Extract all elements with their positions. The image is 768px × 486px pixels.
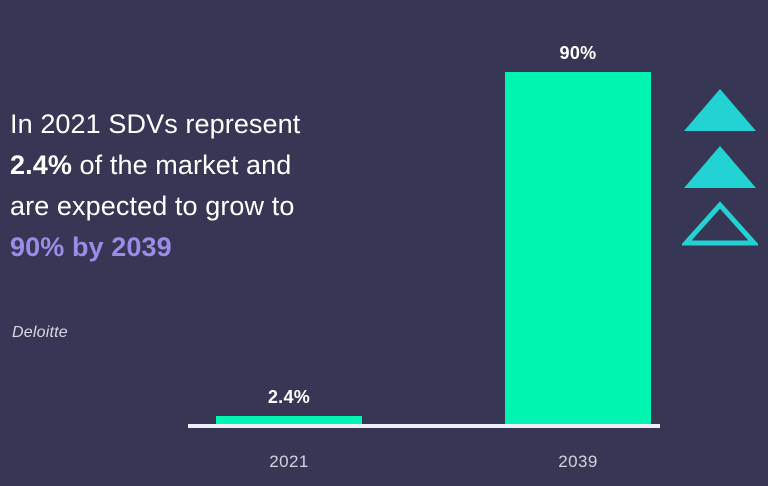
bar-group-2039: 90%: [505, 0, 651, 425]
headline-stat-current: 2.4%: [10, 150, 72, 180]
growth-arrow-stack: [682, 86, 762, 252]
bar-value-label-2039: 90%: [505, 43, 651, 64]
bar-2039[interactable]: [505, 72, 651, 425]
infographic-canvas: In 2021 SDVs represent 2.4% of the marke…: [0, 0, 768, 486]
x-axis-tick-2039: 2039: [505, 452, 651, 472]
source-attribution: Deloitte: [12, 324, 68, 342]
x-axis-line: [188, 424, 660, 428]
arrow-up-outline-icon: [682, 200, 758, 248]
arrow-up-filled-icon: [682, 86, 758, 134]
x-axis-tick-2021: 2021: [216, 452, 362, 472]
bar-group-2021: 2.4%: [216, 0, 362, 425]
arrow-up-filled-icon: [682, 143, 758, 191]
chart-plot-area: 2.4% 90%: [188, 0, 660, 486]
bar-value-label-2021: 2.4%: [216, 387, 362, 408]
